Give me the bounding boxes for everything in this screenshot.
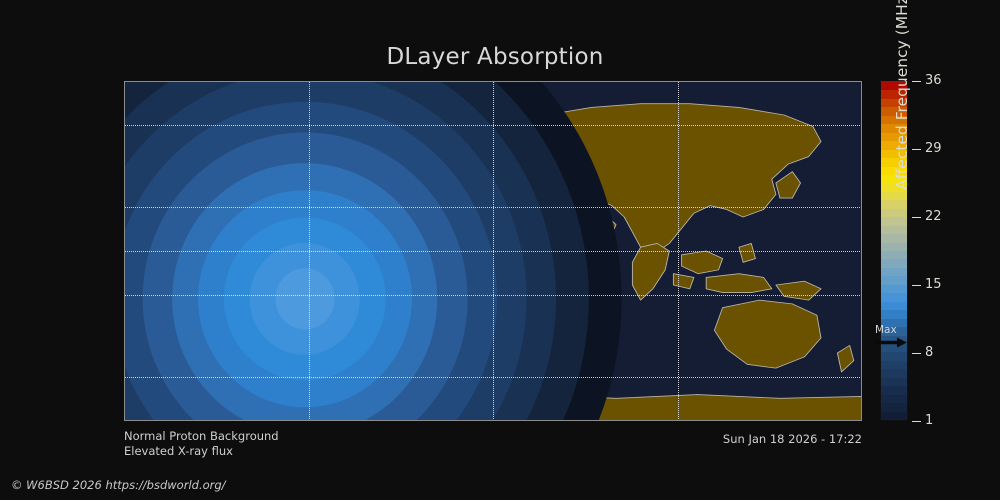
copyright-notice: © W6BSD 2026 https://bsdworld.org/ bbox=[11, 478, 226, 492]
colorbar-band bbox=[881, 301, 907, 310]
arrow-right-icon bbox=[873, 336, 911, 349]
gridline-longitude bbox=[678, 81, 679, 421]
colorbar-band bbox=[881, 284, 907, 293]
colorbar-band bbox=[881, 352, 907, 361]
dlayer-absorption-page: DLayer Absorption bbox=[0, 0, 1000, 500]
colorbar-title: Affected Frequency (MHz) bbox=[893, 0, 911, 250]
colorbar-band bbox=[881, 411, 907, 420]
colorbar-band bbox=[881, 403, 907, 412]
colorbar-tick-label: 8 bbox=[925, 346, 933, 359]
colorbar-tick bbox=[912, 81, 921, 82]
status-text: Normal Proton Background Elevated X-ray … bbox=[124, 429, 279, 459]
colorbar-band bbox=[881, 293, 907, 302]
colorbar-tick bbox=[912, 217, 921, 218]
colorbar-band bbox=[881, 394, 907, 403]
colorbar-band bbox=[881, 369, 907, 378]
colorbar-tick-label: 15 bbox=[925, 278, 942, 291]
status-line-1: Normal Proton Background bbox=[124, 429, 279, 444]
colorbar-tick bbox=[912, 285, 921, 286]
colorbar-band bbox=[881, 377, 907, 386]
colorbar-band bbox=[881, 267, 907, 276]
gridline-longitude bbox=[493, 81, 494, 421]
colorbar-band bbox=[881, 310, 907, 319]
colorbar-max-marker: Max bbox=[873, 325, 913, 349]
gridline-longitude bbox=[309, 81, 310, 421]
colorbar-band bbox=[881, 386, 907, 395]
colorbar-tick-label: 1 bbox=[925, 414, 933, 427]
colorbar-max-label: Max bbox=[875, 325, 897, 336]
colorbar-band bbox=[881, 259, 907, 268]
status-line-2: Elevated X-ray flux bbox=[124, 444, 279, 459]
page-title: DLayer Absorption bbox=[0, 44, 990, 70]
absorption-ring bbox=[275, 268, 334, 329]
colorbar-tick bbox=[912, 353, 921, 354]
colorbar-tick bbox=[912, 149, 921, 150]
colorbar-tick-label: 36 bbox=[925, 74, 942, 87]
colorbar-tick bbox=[912, 421, 921, 422]
colorbar-band bbox=[881, 250, 907, 259]
timestamp: Sun Jan 18 2026 - 17:22 bbox=[562, 432, 862, 446]
colorbar-band bbox=[881, 276, 907, 285]
colorbar-tick-label: 29 bbox=[925, 142, 942, 155]
colorbar-band bbox=[881, 360, 907, 369]
colorbar-tick-label: 22 bbox=[925, 210, 942, 223]
world-map[interactable] bbox=[124, 81, 862, 421]
